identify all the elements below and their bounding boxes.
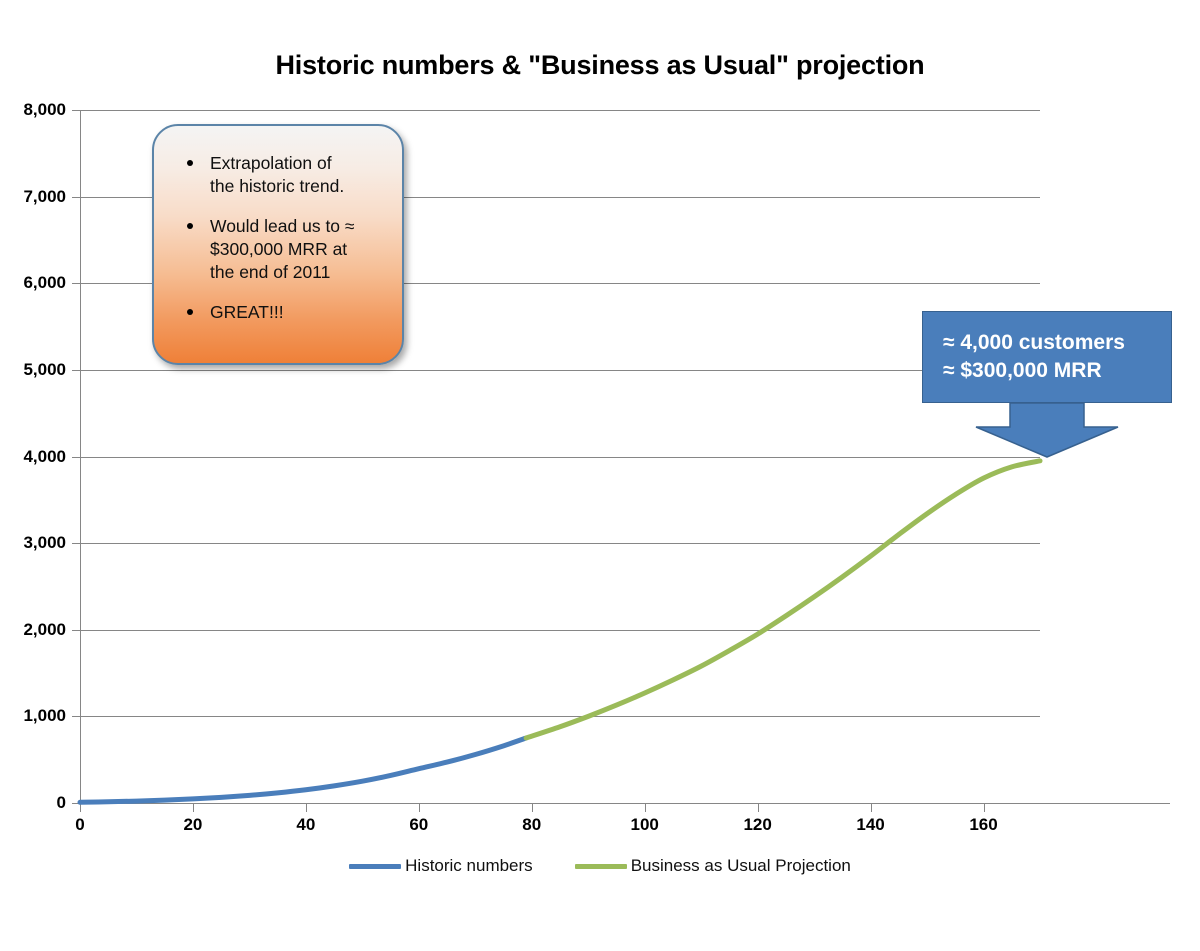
x-tick-mark xyxy=(306,803,307,812)
y-tick-mark xyxy=(72,457,81,458)
y-tick-mark xyxy=(72,197,81,198)
series-line-business-as-usual-projection xyxy=(526,461,1040,738)
y-tick-mark xyxy=(72,543,81,544)
blue-annotation: ≈ 4,000 customers ≈ $300,000 MRR xyxy=(922,311,1172,459)
y-tick-label: 0 xyxy=(57,793,66,813)
x-axis-line xyxy=(80,803,1170,804)
gridline xyxy=(80,370,1040,371)
legend-label: Business as Usual Projection xyxy=(631,856,851,876)
orange-callout-bullet-3: GREAT!!! xyxy=(170,301,388,324)
y-tick-mark xyxy=(72,370,81,371)
orange-callout-bullet-2-line-3: the end of 2011 xyxy=(210,262,330,282)
x-tick-mark xyxy=(532,803,533,812)
blue-annotation-line-1: ≈ 4,000 customers xyxy=(943,329,1125,357)
x-tick-label: 40 xyxy=(296,815,315,835)
x-tick-label: 60 xyxy=(409,815,428,835)
orange-callout-list: Extrapolation of the historic trend. Wou… xyxy=(170,152,388,325)
series-line-historic-numbers xyxy=(80,738,526,802)
orange-callout-bullet-2-line-2: $300,000 MRR at xyxy=(210,239,347,259)
gridline xyxy=(80,543,1040,544)
y-tick-label: 7,000 xyxy=(23,187,66,207)
x-tick-label: 140 xyxy=(856,815,884,835)
blue-annotation-box: ≈ 4,000 customers ≈ $300,000 MRR xyxy=(922,311,1172,403)
orange-callout-bullet-1-line-1: Extrapolation of xyxy=(210,153,332,173)
x-tick-mark xyxy=(984,803,985,812)
y-tick-label: 8,000 xyxy=(23,100,66,120)
y-tick-mark xyxy=(72,716,81,717)
legend-swatch xyxy=(349,864,401,869)
x-tick-label: 160 xyxy=(969,815,997,835)
orange-callout-bullet-2: Would lead us to ≈ $300,000 MRR at the e… xyxy=(170,215,388,284)
orange-callout-bullet-1: Extrapolation of the historic trend. xyxy=(170,152,388,198)
x-tick-label: 0 xyxy=(75,815,84,835)
y-tick-label: 3,000 xyxy=(23,533,66,553)
y-tick-mark xyxy=(72,630,81,631)
x-tick-mark xyxy=(80,803,81,812)
gridline xyxy=(80,716,1040,717)
legend-item[interactable]: Historic numbers xyxy=(349,856,533,876)
orange-callout-box: Extrapolation of the historic trend. Wou… xyxy=(152,124,404,365)
orange-callout-bullet-2-line-1: Would lead us to ≈ xyxy=(210,216,355,236)
page-title: Historic numbers & "Business as Usual" p… xyxy=(0,50,1200,81)
legend-label: Historic numbers xyxy=(405,856,533,876)
orange-callout-bullet-1-line-2: the historic trend. xyxy=(210,176,344,196)
x-tick-label: 100 xyxy=(631,815,659,835)
y-tick-mark xyxy=(72,110,81,111)
chart-legend: Historic numbersBusiness as Usual Projec… xyxy=(0,856,1200,876)
y-tick-label: 1,000 xyxy=(23,706,66,726)
x-tick-mark xyxy=(419,803,420,812)
y-tick-mark xyxy=(72,283,81,284)
x-tick-label: 20 xyxy=(183,815,202,835)
orange-callout-bullet-3-line-1: GREAT!!! xyxy=(210,302,284,322)
blue-annotation-line-2: ≈ $300,000 MRR xyxy=(943,357,1102,385)
y-tick-label: 4,000 xyxy=(23,447,66,467)
chart-root: Historic numbers & "Business as Usual" p… xyxy=(0,0,1200,951)
y-tick-label: 2,000 xyxy=(23,620,66,640)
gridline xyxy=(80,630,1040,631)
x-tick-mark xyxy=(193,803,194,812)
down-arrow-icon xyxy=(922,401,1172,459)
x-tick-mark xyxy=(758,803,759,812)
y-tick-label: 5,000 xyxy=(23,360,66,380)
gridline xyxy=(80,110,1040,111)
x-tick-mark xyxy=(871,803,872,812)
x-tick-label: 80 xyxy=(522,815,541,835)
x-tick-label: 120 xyxy=(743,815,771,835)
legend-swatch xyxy=(575,864,627,869)
legend-item[interactable]: Business as Usual Projection xyxy=(575,856,851,876)
gridline xyxy=(80,457,1040,458)
y-tick-label: 6,000 xyxy=(23,273,66,293)
x-tick-mark xyxy=(645,803,646,812)
